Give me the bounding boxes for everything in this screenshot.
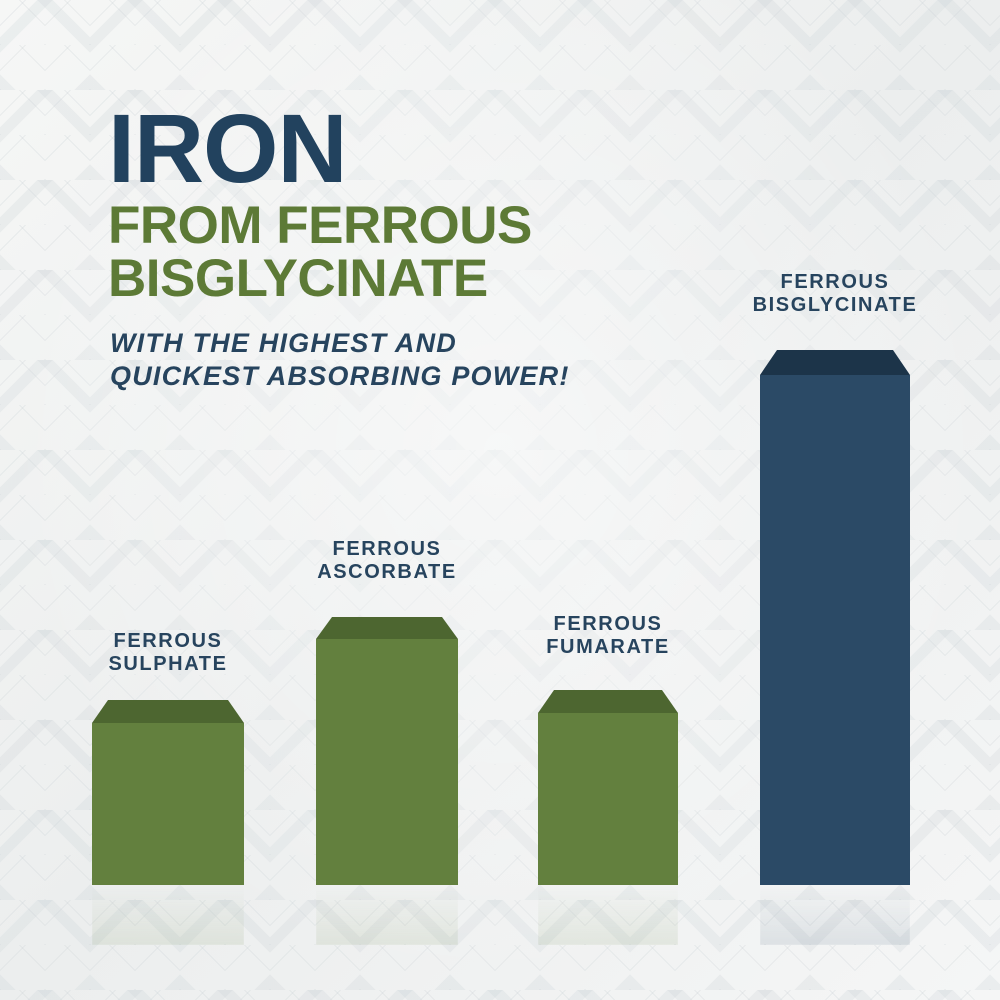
bar-shape[interactable] [538, 690, 678, 885]
bar-group: FERROUS BISGLYCINATE [760, 0, 910, 1000]
bar-chart: FERROUS SULPHATEFERROUS ASCORBATEFERROUS… [0, 0, 1000, 1000]
bar-shape[interactable] [316, 617, 458, 885]
bar-label: FERROUS BISGLYCINATE [720, 271, 950, 317]
bar-group: FERROUS FUMARATE [538, 0, 678, 1000]
bar-top-bevel [538, 690, 678, 713]
bar-body [760, 375, 910, 885]
bar-shape[interactable] [760, 350, 910, 885]
bar-reflection [92, 885, 244, 945]
bar-group: FERROUS ASCORBATE [316, 0, 458, 1000]
bar-top-bevel [92, 700, 244, 723]
bar-body [538, 713, 678, 885]
bar-body [92, 723, 244, 885]
bar-label: FERROUS FUMARATE [498, 613, 718, 659]
bar-top-bevel [760, 350, 910, 375]
infographic-poster: IRON FROM FERROUS BISGLYCINATE WITH THE … [0, 0, 1000, 1000]
bar-group: FERROUS SULPHATE [92, 0, 244, 1000]
bar-reflection [760, 885, 910, 945]
bar-body [316, 639, 458, 885]
bar-label: FERROUS SULPHATE [52, 630, 284, 676]
bar-shape[interactable] [92, 700, 244, 885]
bar-reflection [316, 885, 458, 945]
bar-label: FERROUS ASCORBATE [276, 538, 498, 584]
bar-reflection [538, 885, 678, 945]
bar-top-bevel [316, 617, 458, 639]
